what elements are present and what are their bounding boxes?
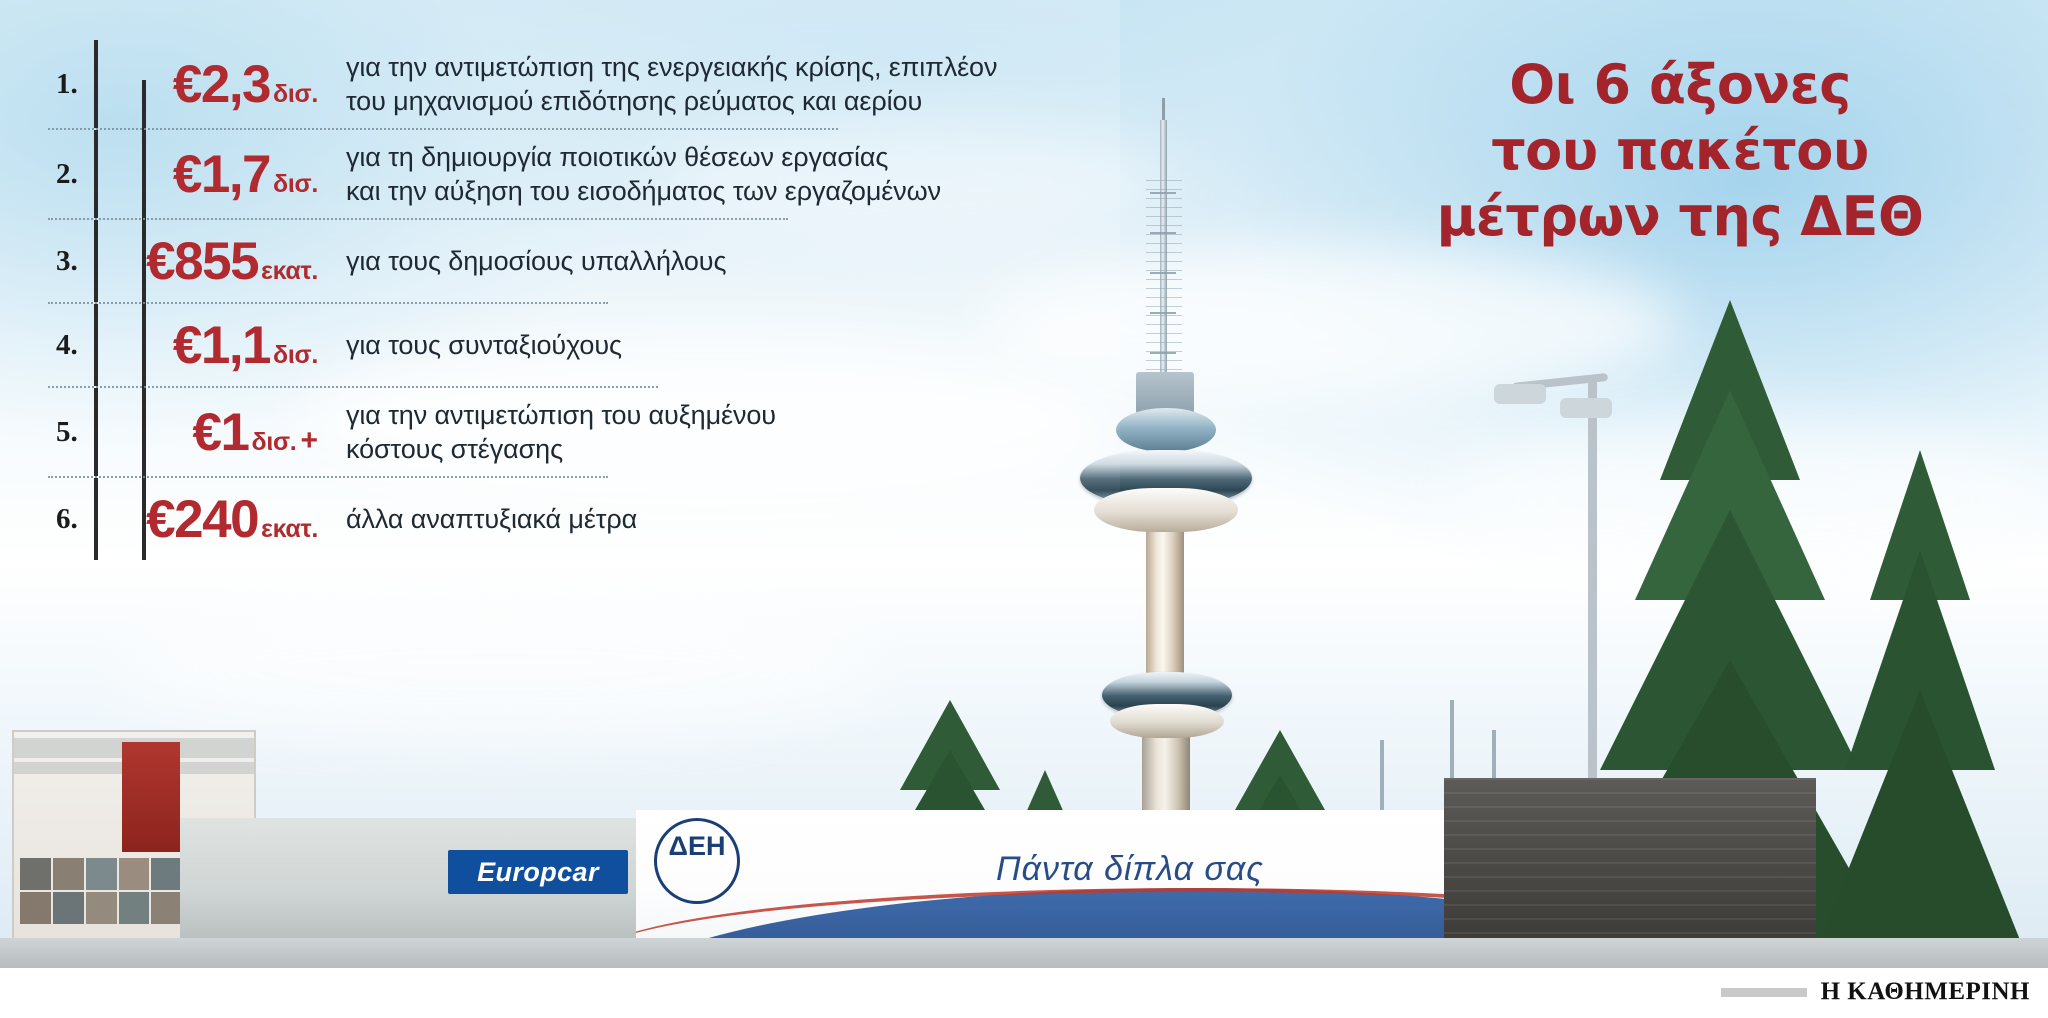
table-row: 5. €1δισ.+ για την αντιμετώπιση του αυξη…	[48, 388, 1108, 476]
row-description: για τους συνταξιούχους	[324, 328, 1108, 362]
table-row: 4. €1,1δισ. για τους συνταξιούχους	[48, 304, 1108, 386]
row-amount-value: €240	[146, 490, 258, 549]
tower-rung	[1150, 232, 1176, 234]
row-description: για την αντιμετώπιση του αυξημένου κόστο…	[324, 398, 1108, 466]
row-divider	[94, 388, 98, 476]
row-amount: €240εκατ.	[124, 489, 324, 550]
headline-line-2: του πακέτου	[1380, 118, 1980, 184]
row-description-line-1: για τους συνταξιούχους	[346, 330, 622, 360]
row-divider	[94, 130, 98, 218]
row-description: για την αντιμετώπιση της ενεργειακής κρί…	[324, 50, 1108, 118]
row-index: 5.	[48, 416, 94, 449]
tower-rung	[1150, 192, 1176, 194]
row-description-line-1: για την αντιμετώπιση της ενεργειακής κρί…	[346, 52, 997, 82]
row-amount: €1,1δισ.	[124, 315, 324, 376]
row-index: 3.	[48, 245, 94, 278]
page-title: Οι 6 άξονες του πακέτου μέτρων της ΔΕΘ	[1380, 52, 1980, 250]
tower-mast-lattice	[1146, 180, 1182, 380]
row-index: 6.	[48, 503, 94, 536]
row-amount: €1,7δισ.	[124, 144, 324, 205]
table-row: 3. €855εκατ. για τους δημοσίους υπαλλήλο…	[48, 220, 1108, 302]
tower-upper-pod	[1116, 408, 1216, 452]
row-amount: €855εκατ.	[124, 231, 324, 292]
row-description: άλλα αναπτυξιακά μέτρα	[324, 502, 1108, 536]
row-description-line-1: για την αντιμετώπιση του αυξημένου	[346, 400, 776, 430]
row-amount: €1δισ.+	[124, 402, 324, 463]
dark-building	[1444, 778, 1816, 954]
row-amount-unit: εκατ.	[261, 257, 318, 285]
row-description-line-1: για τους δημοσίους υπαλλήλους	[346, 246, 726, 276]
row-amount-value: €1,1	[173, 316, 270, 375]
row-description-line-2: κόστους στέγασης	[346, 432, 1108, 466]
europcar-sign-text: Europcar	[477, 857, 599, 888]
row-amount-unit: δισ.	[252, 428, 297, 456]
dei-slogan-text: Πάντα δίπλα σας	[996, 850, 1264, 889]
row-divider	[94, 304, 98, 386]
row-amount-suffix: +	[300, 424, 318, 457]
tower-deck-skirt-upper	[1094, 488, 1238, 532]
row-description-line-1: άλλα αναπτυξιακά μέτρα	[346, 504, 637, 534]
street-lamp-head	[1560, 398, 1612, 418]
row-index: 1.	[48, 68, 94, 101]
row-amount-unit: δισ.	[273, 170, 318, 198]
row-description: για τη δημιουργία ποιοτικών θέσεων εργασ…	[324, 140, 1108, 208]
row-description-line-2: και την αύξηση του εισοδήματος των εργαζ…	[346, 174, 1108, 208]
footer-rule-icon	[1721, 988, 1807, 997]
headline-line-1: Οι 6 άξονες	[1380, 52, 1980, 118]
europcar-sign: Europcar	[448, 850, 628, 894]
row-amount-value: €1	[193, 403, 249, 462]
measures-table: 1. €2,3δισ. για την αντιμετώπιση της ενε…	[48, 40, 1108, 560]
street-level-scene: Europcar ΔΕΗ Πάντα δίπλα σας	[0, 690, 2048, 968]
footer: Η ΚΑΘΗΜΕΡΙΝΗ	[0, 968, 2048, 1018]
row-amount-value: €2,3	[173, 55, 270, 114]
row-amount: €2,3δισ.	[124, 54, 324, 115]
tower-rung	[1150, 312, 1176, 314]
row-amount-unit: δισ.	[273, 341, 318, 369]
row-divider	[94, 40, 98, 128]
table-row: 2. €1,7δισ. για τη δημιουργία ποιοτικών …	[48, 130, 1108, 218]
road-strip	[0, 938, 2048, 968]
row-description-line-2: του μηχανισμού επιδότησης ρεύματος και α…	[346, 84, 1108, 118]
dei-logo-text: ΔΕΗ	[669, 831, 726, 861]
row-divider	[94, 478, 98, 560]
publisher-logo: Η ΚΑΘΗΜΕΡΙΝΗ	[1821, 978, 2030, 1006]
headline-line-3: μέτρων της ΔΕΘ	[1380, 184, 1980, 250]
tower-rung	[1150, 272, 1176, 274]
row-amount-unit: δισ.	[273, 80, 318, 108]
dei-logo-icon: ΔΕΗ	[654, 818, 740, 904]
table-row: 1. €2,3δισ. για την αντιμετώπιση της ενε…	[48, 40, 1108, 128]
street-lamp-head	[1494, 384, 1546, 404]
row-description-line-1: για τη δημιουργία ποιοτικών θέσεων εργασ…	[346, 142, 888, 172]
row-amount-value: €855	[146, 232, 258, 291]
billboard-red-panel	[122, 742, 180, 852]
row-amount-unit: εκατ.	[261, 515, 318, 543]
row-index: 4.	[48, 329, 94, 362]
infographic-root: Europcar ΔΕΗ Πάντα δίπλα σας Οι 6 άξονες…	[0, 0, 2048, 1018]
row-index: 2.	[48, 158, 94, 191]
table-row: 6. €240εκατ. άλλα αναπτυξιακά μέτρα	[48, 478, 1108, 560]
row-description: για τους δημοσίους υπαλλήλους	[324, 244, 1108, 278]
row-divider	[94, 220, 98, 302]
row-amount-value: €1,7	[173, 145, 270, 204]
tower-rung	[1150, 352, 1176, 354]
